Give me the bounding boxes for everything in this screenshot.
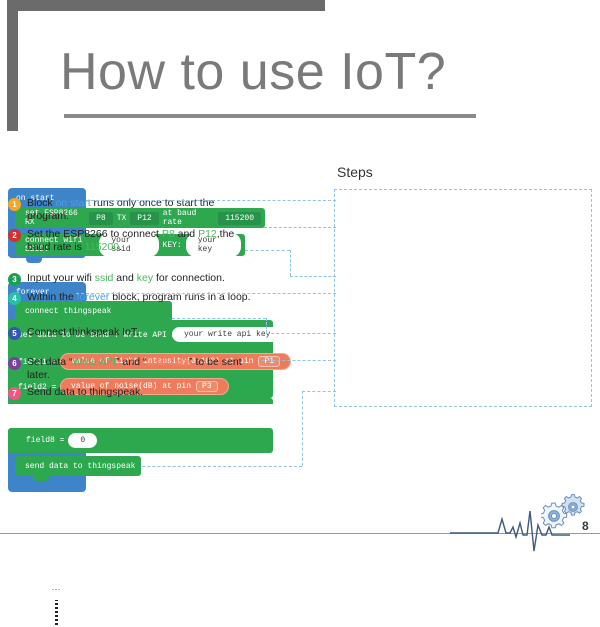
block-field8[interactable]: field8 = 0 — [8, 428, 273, 453]
step-2-seg-5: 115200 — [85, 241, 119, 253]
step-badge-6: 6 — [8, 357, 21, 370]
steps-panel — [334, 189, 592, 407]
step-2-seg-1: P8 — [162, 228, 175, 240]
step-item-2[interactable]: 2 Set the ESP8266 to connect P8 and P12,… — [8, 228, 254, 254]
step-6-seg-2: ” and “ — [116, 356, 146, 368]
step-3-seg-2: and — [113, 272, 136, 284]
step-text-2: Set the ESP8266 to connect P8 and P12,th… — [27, 228, 254, 254]
gears-icon — [541, 494, 587, 534]
connector-forever — [76, 293, 336, 294]
step-badge-4: 4 — [8, 292, 21, 305]
step-2-seg-2: and — [175, 228, 198, 240]
step-text-6: Set data “Write API” and “field data” to… — [27, 356, 254, 382]
step-1-seg-1: on start — [56, 197, 91, 209]
block-send-data-thingspeak[interactable]: send data to thingspeak — [15, 456, 141, 476]
step-3-seg-1: ssid — [95, 272, 114, 284]
step-1-seg-0: Block — [27, 197, 56, 209]
step-6-seg-1: Write API — [73, 356, 117, 368]
connector-fields — [262, 360, 336, 361]
connector-thingspeak-v — [266, 318, 267, 333]
step-badge-3: 3 — [8, 273, 21, 286]
corner-bracket-horizontal — [7, 0, 325, 11]
step-3-seg-4: for connection. — [153, 272, 225, 284]
step-badge-2: 2 — [8, 229, 21, 242]
field8-value[interactable]: 0 — [68, 433, 97, 448]
step-badge-1: 1 — [8, 198, 21, 211]
step-item-5[interactable]: 5 Connect thinkspeak IoT. — [8, 326, 254, 340]
block-send-data-notch — [33, 476, 49, 481]
connector-send-v — [302, 391, 303, 466]
field1-pin[interactable]: P1 — [258, 356, 280, 367]
steps-heading: Steps — [337, 164, 373, 180]
step-6-seg-0: Set data “ — [27, 356, 73, 368]
step-3-seg-3: key — [137, 272, 153, 284]
step-item-3[interactable]: 3 Input your wifi ssid and key for conne… — [8, 272, 254, 286]
step-7-seg-0: Send data to thingspeak. — [27, 386, 143, 398]
connector-esp8266 — [264, 227, 336, 228]
connector-thingspeak-a — [172, 318, 266, 319]
corner-bracket-vertical — [7, 11, 18, 131]
page-title: How to use IoT? — [60, 42, 446, 102]
block-send-data-text: send data to thingspeak — [25, 462, 135, 471]
blocks-ellipsis-bubble: ⋯ — [45, 586, 67, 600]
step-2-seg-0: Set the ESP8266 to connect — [27, 228, 162, 240]
step-text-3: Input your wifi ssid and key for connect… — [27, 272, 225, 285]
connector-wifi-b — [290, 276, 336, 277]
connector-send-b — [302, 391, 336, 392]
step-6-seg-3: field data — [146, 356, 189, 368]
step-badge-5: 5 — [8, 327, 21, 340]
block-on-start-notch — [26, 258, 42, 263]
step-3-seg-0: Input your wifi — [27, 272, 95, 284]
connector-on-start — [86, 200, 336, 201]
step-2-seg-3: P12 — [198, 228, 217, 240]
block-connect-thingspeak-text: connect thingspeak — [25, 307, 111, 316]
step-item-7[interactable]: 7 Send data to thingspeak. — [8, 386, 254, 400]
step-4-seg-0: Within the — [27, 291, 77, 303]
connector-wifi-a — [245, 250, 290, 251]
step-5-seg-0: Connect thinkspeak IoT. — [27, 326, 139, 338]
page-number: 8 — [582, 519, 589, 533]
step-item-6[interactable]: 6 Set data “Write API” and “field data” … — [8, 356, 254, 382]
block-field8-label: field8 = — [26, 436, 64, 445]
connector-wifi-v — [290, 250, 291, 276]
title-underline — [64, 114, 476, 118]
step-badge-7: 7 — [8, 387, 21, 400]
connector-thingspeak-b — [266, 333, 336, 334]
step-text-7: Send data to thingspeak. — [27, 386, 143, 399]
step-2-seg-6: . — [119, 241, 122, 253]
step-text-5: Connect thinkspeak IoT. — [27, 326, 139, 339]
